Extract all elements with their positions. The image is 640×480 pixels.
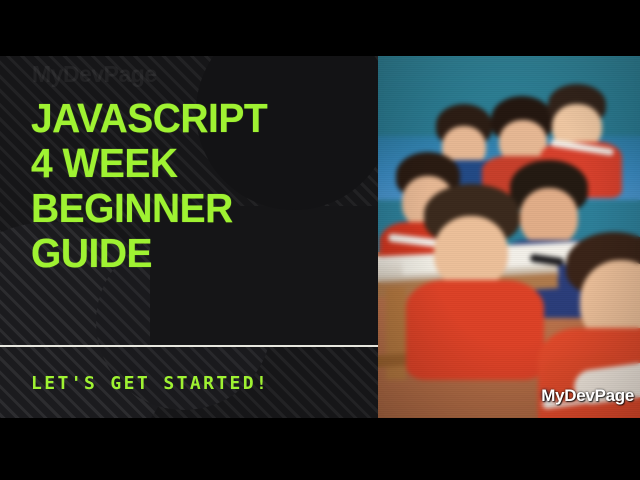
- letterbox-top: [0, 0, 640, 56]
- video-thumbnail: MyDevPage JAVASCRIPT 4 WEEK BEGINNER GUI…: [0, 0, 640, 480]
- watermark-top-left: MyDevPage: [32, 61, 157, 88]
- headline-line-4: GUIDE: [31, 231, 354, 276]
- uniform-jacket: [406, 280, 544, 380]
- child-foreground-left: [420, 184, 526, 334]
- divider-rule: [0, 345, 378, 347]
- classroom-photo: MyDevPage: [378, 56, 640, 418]
- watermark-bottom-right: MyDevPage: [541, 386, 634, 406]
- letterbox-bottom: [0, 418, 640, 480]
- subtitle-call-to-action: LET'S GET STARTED!: [31, 373, 269, 394]
- headline-line-1: JAVASCRIPT: [31, 96, 354, 141]
- content-band: MyDevPage JAVASCRIPT 4 WEEK BEGINNER GUI…: [0, 56, 640, 418]
- headline: JAVASCRIPT 4 WEEK BEGINNER GUIDE: [31, 96, 354, 276]
- headline-line-2: 4 WEEK: [31, 141, 354, 186]
- headline-line-3: BEGINNER: [31, 186, 354, 231]
- title-panel: MyDevPage JAVASCRIPT 4 WEEK BEGINNER GUI…: [0, 56, 378, 418]
- head: [434, 216, 508, 288]
